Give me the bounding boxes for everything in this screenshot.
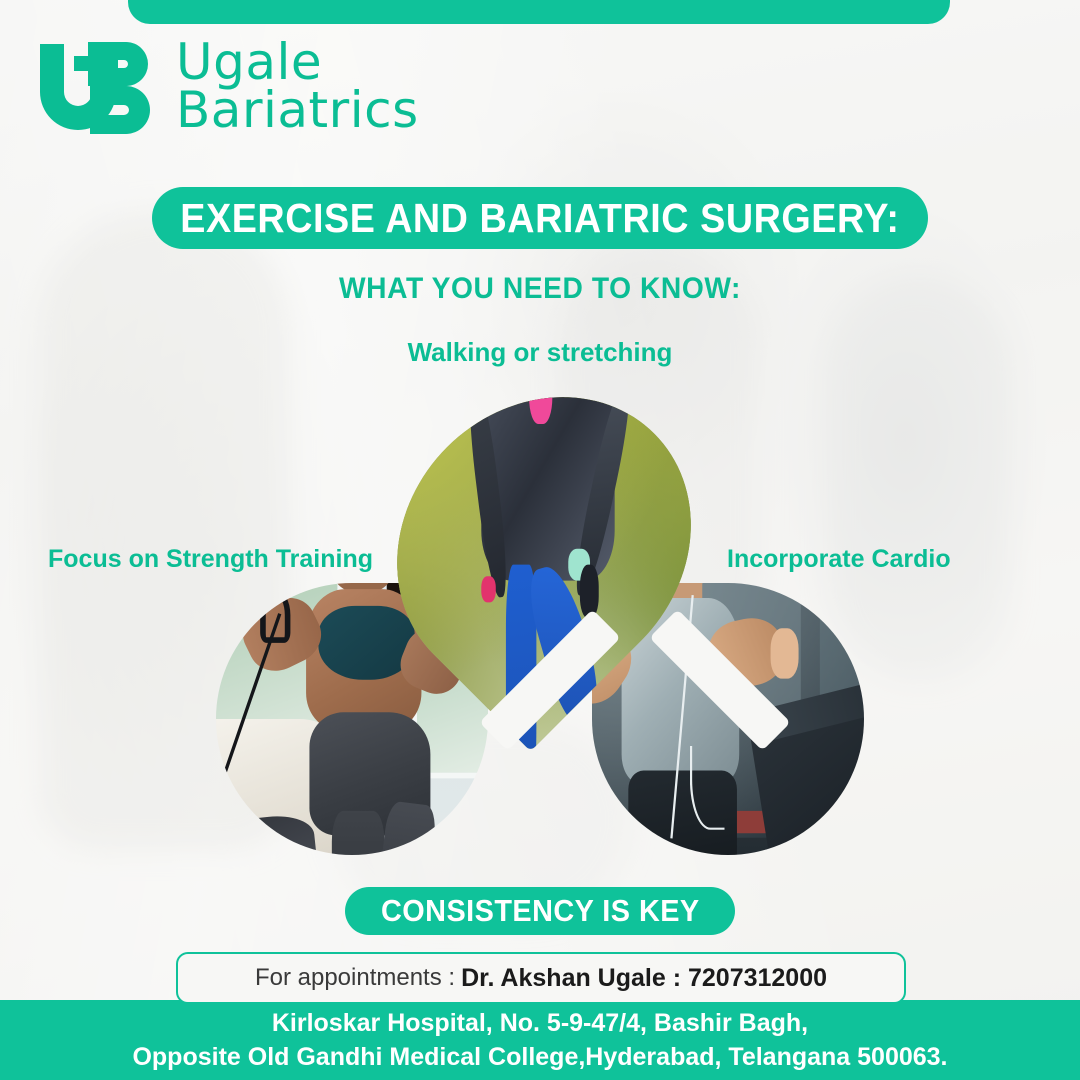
appointments-doctor-phone[interactable]: Dr. Akshan Ugale : 7207312000 — [461, 964, 827, 993]
appointments-box[interactable]: For appointments : Dr. Akshan Ugale : 72… — [176, 952, 906, 1004]
brand-logo: Ugale Bariatrics — [34, 38, 419, 134]
consistency-callout: CONSISTENCY IS KEY — [345, 887, 735, 935]
top-accent-bar — [128, 0, 950, 24]
tip-label-left: Focus on Strength Training — [48, 545, 373, 574]
headline-title: EXERCISE AND BARIATRIC SURGERY: — [180, 195, 899, 242]
brand-name-line1: Ugale — [176, 38, 419, 86]
footer-address-band: Kirloskar Hospital, No. 5-9-47/4, Bashir… — [0, 1000, 1080, 1080]
appointments-label: For appointments : — [255, 964, 455, 992]
poster-canvas: Ugale Bariatrics EXERCISE AND BARIATRIC … — [0, 0, 1080, 1080]
consistency-callout-text: CONSISTENCY IS KEY — [381, 893, 700, 929]
headline-banner: EXERCISE AND BARIATRIC SURGERY: — [152, 187, 928, 249]
brand-name-line2: Bariatrics — [176, 86, 419, 134]
tip-label-right: Incorporate Cardio — [727, 545, 951, 574]
address-line-1: Kirloskar Hospital, No. 5-9-47/4, Bashir… — [272, 1006, 808, 1041]
ub-plus-logo-icon — [34, 38, 162, 134]
brand-name: Ugale Bariatrics — [176, 38, 419, 134]
headline-subtitle: WHAT YOU NEED TO KNOW: — [32, 272, 1047, 306]
address-line-2: Opposite Old Gandhi Medical College,Hyde… — [132, 1040, 947, 1075]
